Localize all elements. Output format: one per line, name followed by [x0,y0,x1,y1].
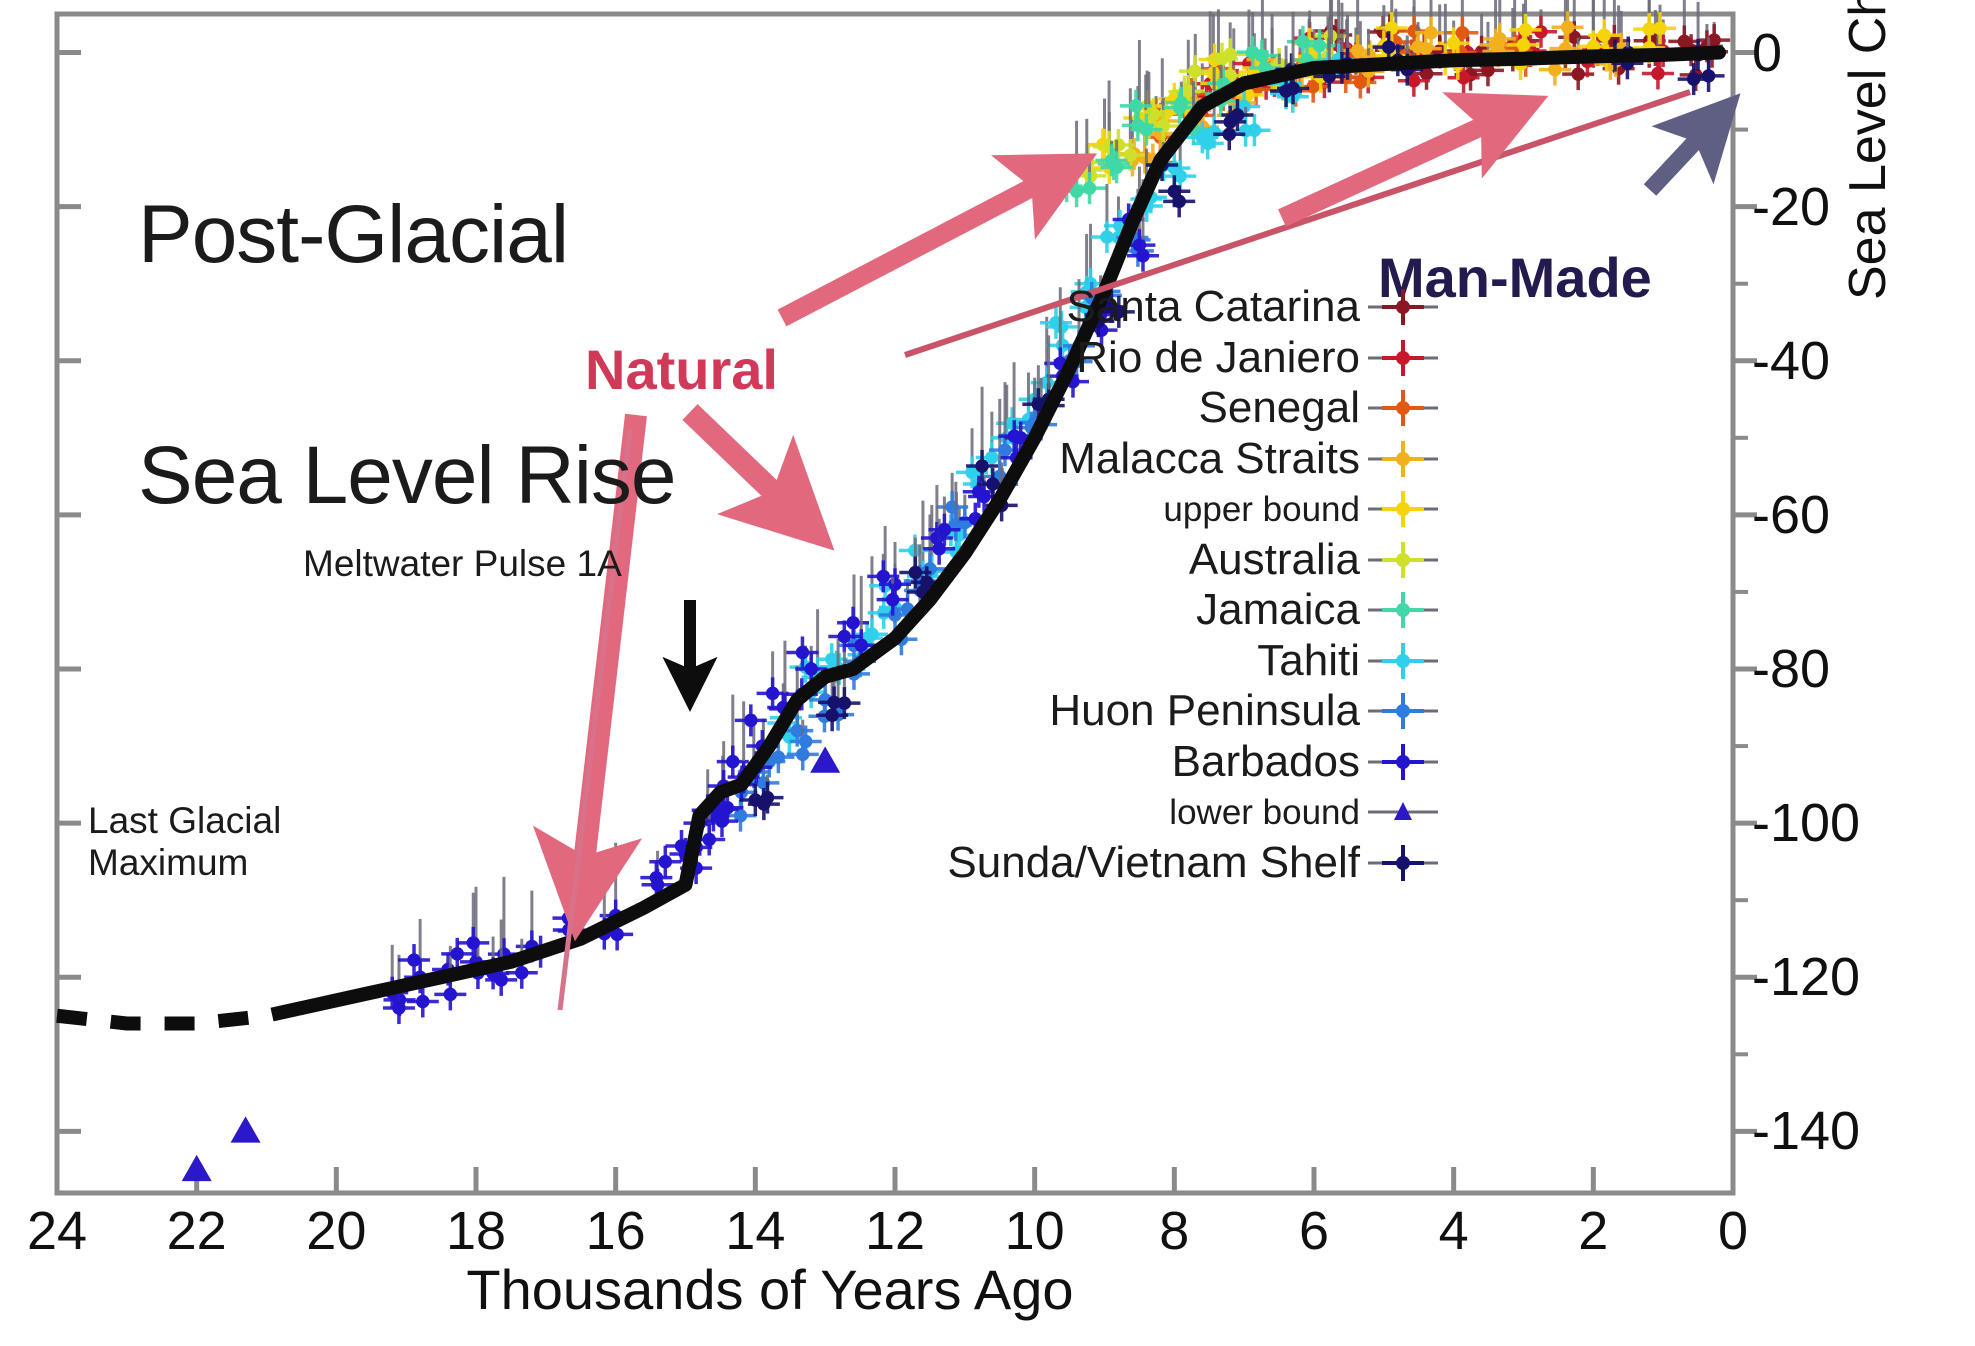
legend-item-label: Barbados [1172,740,1360,784]
legend-cross-marker-icon [1366,639,1440,683]
legend-item-label: Malacca Straits [1059,437,1360,481]
legend-item[interactable]: Australia [900,535,1440,586]
legend-item-label: Australia [1189,538,1360,582]
legend-item-label: Tahiti [1257,639,1360,683]
legend-cross-marker-icon [1366,841,1440,885]
legend-cross-marker-icon [1366,588,1440,632]
legend-cross-marker-icon [1366,336,1440,380]
legend-item[interactable]: Malacca Straits [900,434,1440,485]
legend-cross-marker-icon [1366,487,1440,531]
y-tick-label: -100 [1752,792,1860,854]
legend-cross-marker-icon [1366,285,1440,329]
legend-item[interactable]: lower bound [900,787,1440,838]
y-tick-label: -140 [1752,1100,1860,1162]
legend-cross-marker-icon [1366,386,1440,430]
legend-item-label: Sunda/Vietnam Shelf [947,841,1360,885]
legend-item[interactable]: Santa Catarina [900,282,1440,333]
legend-item[interactable]: Sunda/Vietnam Shelf [900,838,1440,889]
legend: Santa CatarinaRio de JanieroSenegalMalac… [900,282,1440,888]
chart-figure: Post-Glacial Sea Level Rise Natural Man-… [0,0,1975,1346]
y-tick-label: -120 [1752,946,1860,1008]
legend-cross-marker-icon [1366,538,1440,582]
legend-item-label: Jamaica [1196,588,1360,632]
y-tick-label: -80 [1752,638,1830,700]
legend-item[interactable]: Huon Peninsula [900,686,1440,737]
legend-triangle-marker-icon [1366,790,1440,834]
y-tick-label: -40 [1752,330,1830,392]
legend-item[interactable]: Tahiti [900,636,1440,687]
y-tick-label: 0 [1752,22,1782,84]
legend-cross-marker-icon [1366,740,1440,784]
y-tick-label: -20 [1752,176,1830,238]
legend-item-label: Huon Peninsula [1049,689,1360,733]
legend-item-label: Rio de Janiero [1076,336,1360,380]
legend-item-label: Senegal [1199,386,1360,430]
y-tick-label: -60 [1752,484,1830,546]
legend-cross-marker-icon [1366,689,1440,733]
legend-item[interactable]: Barbados [900,737,1440,788]
legend-item-label: upper bound [1163,492,1360,527]
legend-item-label: Santa Catarina [1066,285,1360,329]
legend-item[interactable]: Jamaica [900,585,1440,636]
legend-item[interactable]: Senegal [900,383,1440,434]
legend-cross-marker-icon [1366,437,1440,481]
legend-item-label: lower bound [1169,795,1360,830]
legend-item[interactable]: upper bound [900,484,1440,535]
legend-item[interactable]: Rio de Janiero [900,333,1440,384]
